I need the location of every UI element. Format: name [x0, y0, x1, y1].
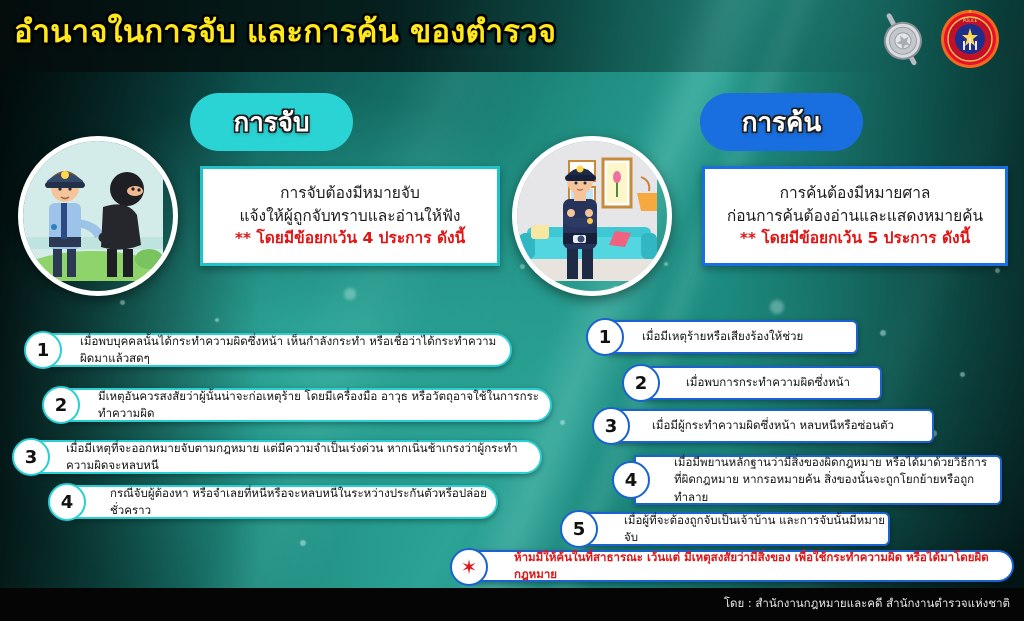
search-item-4: เมื่อมีพยานหลักฐานว่ามีสิ่งของผิดกฎหมาย …	[612, 455, 1002, 505]
arrest-item-2: มีเหตุอันควรสงสัยว่าผู้นั้นน่าจะก่อเหตุร…	[42, 388, 552, 422]
svg-text:POLICE: POLICE	[963, 18, 978, 23]
page-title: อำนาจในการจับ และการค้น ของตำรวจ	[14, 15, 556, 49]
search-headline-line3: ** โดยมีข้อยกเว้น 5 ประการ ดังนี้	[740, 227, 970, 249]
arrest-item-4: กรณีจับผู้ต้องหา หรือจำเลยที่หนีหรือจะหล…	[48, 485, 498, 519]
search-item-1-text: เมื่อมีเหตุร้ายหรือเสียงร้องให้ช่วย	[642, 328, 803, 345]
arrest-item-4-bar: กรณีจับผู้ต้องหา หรือจำเลยที่หนีหรือจะหล…	[70, 485, 498, 519]
bokeh-dot	[770, 300, 784, 314]
emblem-group: POLICE	[869, 8, 1009, 70]
search-item-5-bar: เมื่อผู้ที่จะต้องถูกจับเป็นเจ้าบ้าน และก…	[582, 512, 890, 546]
search-item-3-bar: เมื่อมีผู้กระทำความผิดซึ่งหน้า หลบหนีหรื…	[614, 409, 934, 443]
search-item-3-text: เมื่อมีผู้กระทำความผิดซึ่งหน้า หลบหนีหรื…	[652, 417, 894, 434]
search-item-4-text: เมื่อมีพยานหลักฐานว่ามีสิ่งของผิดกฎหมาย …	[674, 454, 1000, 506]
infographic-canvas: อำนาจในการจับ และการค้น ของตำรวจ	[0, 0, 1024, 621]
bokeh-dot	[520, 264, 525, 269]
arrest-headline-box: การจับต้องมีหมายจับ แจ้งให้ผู้ถูกจับทราบ…	[200, 166, 500, 266]
arrest-item-1: เมื่อพบบุคคลนั้นได้กระทำความผิดซึ่งหน้า …	[24, 333, 512, 367]
search-item-2: เมื่อพบการกระทำความผิดซึ่งหน้า 2	[622, 366, 882, 400]
search-item-2-bar: เมื่อพบการกระทำความผิดซึ่งหน้า	[644, 366, 882, 400]
search-warning-note: ห้ามมีให้ค้นในที่สาธารณะ เว้นแต่ มีเหตุส…	[450, 550, 1014, 582]
arrest-item-3: เมื่อมีเหตุที่จะออกหมายจับตามกฎหมาย แต่ม…	[12, 440, 542, 474]
arrest-pill: การจับ	[190, 93, 353, 151]
search-item-1: เมื่อมีเหตุร้ายหรือเสียงร้องให้ช่วย 1	[586, 320, 858, 354]
arrest-item-3-text: เมื่อมีเหตุที่จะออกหมายจับตามกฎหมาย แต่ม…	[66, 440, 540, 475]
search-item-4-number: 4	[612, 461, 650, 499]
search-item-5-number: 5	[560, 510, 598, 548]
search-headline-line2: ก่อนการค้นต้องอ่านและแสดงหมายค้น	[727, 205, 983, 227]
arrest-item-4-text: กรณีจับผู้ต้องหา หรือจำเลยที่หนีหรือจะหล…	[110, 485, 496, 520]
arrest-item-2-bar: มีเหตุอันควรสงสัยว่าผู้นั้นน่าจะก่อเหตุร…	[64, 388, 552, 422]
bokeh-dot	[960, 372, 965, 377]
bokeh-dot	[995, 268, 1000, 273]
arrest-item-1-bar: เมื่อพบบุคคลนั้นได้กระทำความผิดซึ่งหน้า …	[46, 333, 512, 367]
arrest-headline-line3: ** โดยมีข้อยกเว้น 4 ประการ ดังนี้	[235, 227, 465, 249]
search-headline-box: การค้นต้องมีหมายศาล ก่อนการค้นต้องอ่านแล…	[702, 166, 1008, 266]
search-warning-bar: ห้ามมีให้ค้นในที่สาธารณะ เว้นแต่ มีเหตุส…	[472, 550, 1014, 582]
arrest-illustration	[18, 136, 178, 296]
arrest-item-1-text: เมื่อพบบุคคลนั้นได้กระทำความผิดซึ่งหน้า …	[80, 333, 510, 368]
search-item-4-bar: เมื่อมีพยานหลักฐานว่ามีสิ่งของผิดกฎหมาย …	[634, 455, 1002, 505]
search-illustration	[512, 136, 672, 296]
footer-credit: โดย : สำนักงานกฎหมายและคดี สำนักงานตำรวจ…	[724, 595, 1010, 613]
search-pill: การค้น	[700, 93, 863, 151]
arrest-item-3-bar: เมื่อมีเหตุที่จะออกหมายจับตามกฎหมาย แต่ม…	[34, 440, 542, 474]
arrest-item-1-number: 1	[24, 331, 62, 369]
search-item-1-bar: เมื่อมีเหตุร้ายหรือเสียงร้องให้ช่วย	[608, 320, 858, 354]
search-headline-line1: การค้นต้องมีหมายศาล	[780, 182, 931, 204]
police-badge-emblem	[869, 8, 935, 70]
arrest-headline-line2: แจ้งให้ผู้ถูกจับทราบและอ่านให้ฟัง	[239, 205, 460, 227]
bokeh-dot	[344, 288, 356, 300]
search-item-5-text: เมื่อผู้ที่จะต้องถูกจับเป็นเจ้าบ้าน และก…	[624, 512, 888, 547]
arrest-item-4-number: 4	[48, 483, 86, 521]
search-item-5: เมื่อผู้ที่จะต้องถูกจับเป็นเจ้าบ้าน และก…	[560, 512, 890, 546]
royal-thai-police-seal-emblem: POLICE	[939, 8, 1001, 70]
search-warning-text: ห้ามมีให้ค้นในที่สาธารณะ เว้นแต่ มีเหตุส…	[514, 549, 1012, 584]
search-item-2-text: เมื่อพบการกระทำความผิดซึ่งหน้า	[686, 374, 850, 391]
bokeh-dot	[880, 330, 886, 336]
search-item-3: เมื่อมีผู้กระทำความผิดซึ่งหน้า หลบหนีหรื…	[592, 409, 934, 443]
arrest-item-2-text: มีเหตุอันควรสงสัยว่าผู้นั้นน่าจะก่อเหตุร…	[98, 388, 550, 423]
bokeh-dot	[664, 262, 668, 266]
arrest-item-3-number: 3	[12, 438, 50, 476]
bokeh-dot	[560, 420, 565, 425]
search-item-3-number: 3	[592, 407, 630, 445]
search-item-1-number: 1	[586, 318, 624, 356]
bokeh-dot	[300, 540, 306, 546]
arrest-headline-line1: การจับต้องมีหมายจับ	[280, 182, 420, 204]
search-item-2-number: 2	[622, 364, 660, 402]
bokeh-dot	[215, 318, 219, 322]
bokeh-dot	[120, 300, 125, 305]
arrest-item-2-number: 2	[42, 386, 80, 424]
asterisk-icon: ✶	[450, 548, 488, 586]
